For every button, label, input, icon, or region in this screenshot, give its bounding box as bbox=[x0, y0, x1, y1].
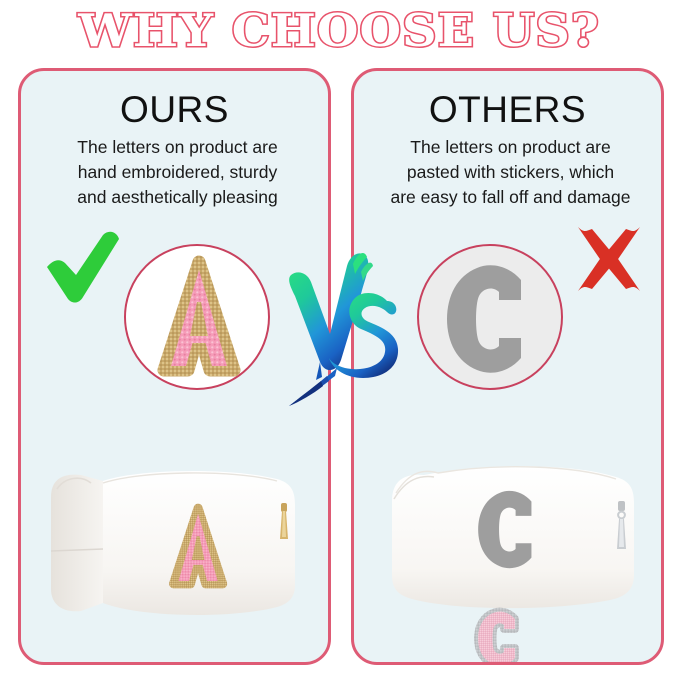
versus-graphic bbox=[281, 248, 399, 423]
product-bag-others bbox=[376, 453, 656, 613]
cross-icon bbox=[570, 221, 648, 299]
patch-showcase-circle-others bbox=[417, 244, 563, 390]
fallen-sticker-patch bbox=[459, 599, 544, 665]
page-title-banner: WHY CHOOSE US? bbox=[0, 2, 679, 58]
panel-body-others: The letters on product are pasted with s… bbox=[368, 135, 653, 210]
panel-body-line: The letters on product are bbox=[368, 135, 653, 160]
patch-showcase-circle-ours bbox=[124, 244, 270, 390]
product-bag-ours bbox=[29, 453, 327, 633]
page-title: WHY CHOOSE US? bbox=[79, 8, 601, 53]
check-icon bbox=[43, 229, 121, 307]
panel-body-line: pasted with stickers, which bbox=[368, 160, 653, 185]
panel-body-ours: The letters on product are hand embroide… bbox=[35, 135, 320, 210]
panel-body-line: and aesthetically pleasing bbox=[35, 185, 320, 210]
panel-body-line: are easy to fall off and damage bbox=[368, 185, 653, 210]
sticker-letter-c bbox=[419, 246, 565, 392]
infographic-canvas: WHY CHOOSE US? OURS The letters on produ… bbox=[0, 0, 679, 689]
panel-body-line: hand embroidered, sturdy bbox=[35, 160, 320, 185]
chenille-letter-a-patch bbox=[126, 246, 272, 392]
panel-heading-others: OTHERS bbox=[354, 89, 661, 131]
panel-body-line: The letters on product are bbox=[35, 135, 320, 160]
panel-heading-ours: OURS bbox=[21, 89, 328, 131]
